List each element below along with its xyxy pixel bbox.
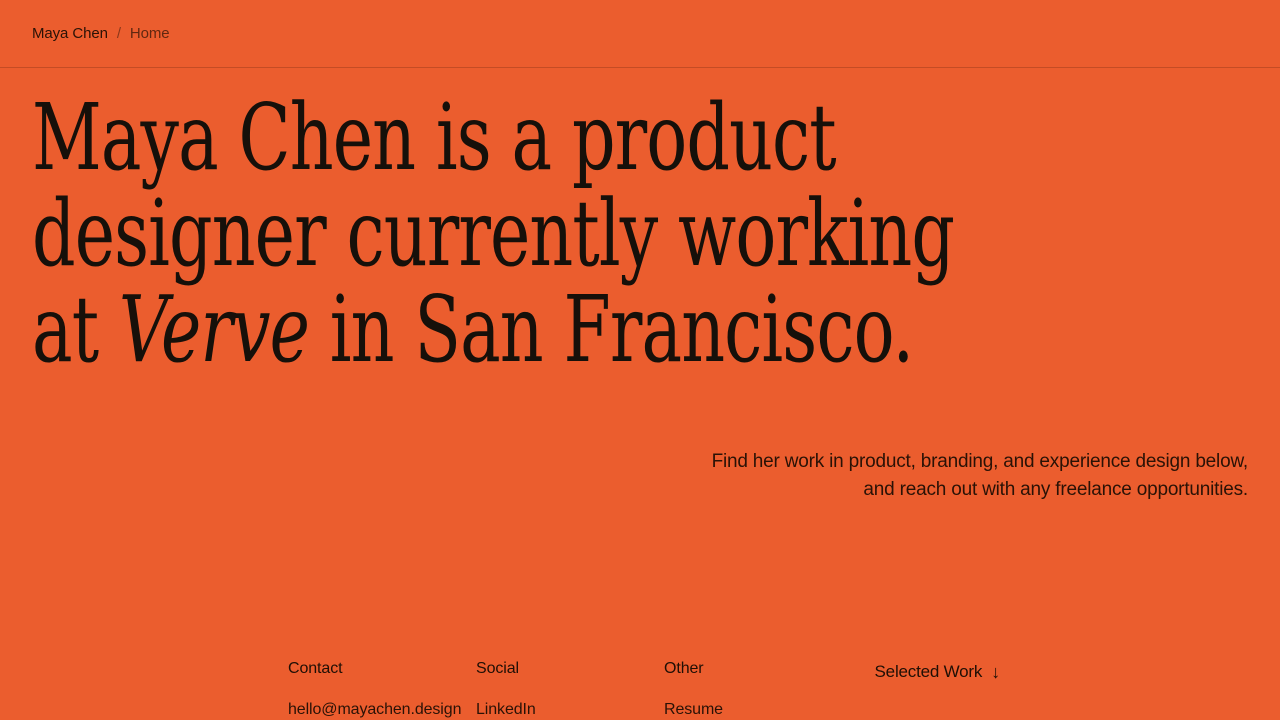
footer-column-contact: Contact hello@mayachen.design: [288, 660, 476, 720]
footer-column-title: Social: [476, 660, 664, 678]
selected-work-label: Selected Work: [875, 662, 983, 682]
footer-column-title: Other: [664, 660, 852, 678]
breadcrumb: Maya Chen / Home: [32, 25, 170, 42]
selected-work-link[interactable]: Selected Work ↓: [875, 662, 1248, 682]
breadcrumb-root-link[interactable]: Maya Chen: [32, 25, 108, 42]
page-title: Maya Chen is a product designer currentl…: [32, 90, 994, 378]
site-header: Maya Chen / Home: [0, 0, 1280, 68]
arrow-down-icon: ↓: [991, 663, 1000, 681]
footer-link-linkedin[interactable]: LinkedIn: [476, 699, 664, 720]
intro-paragraph: Find her work in product, branding, and …: [688, 448, 1248, 504]
footer-column-other: Other Resume: [664, 660, 852, 720]
hero-section: Maya Chen is a product designer currentl…: [0, 90, 1280, 378]
headline-emphasis-company: Verve: [119, 276, 309, 383]
footer-columns: Contact hello@mayachen.design Social Lin…: [288, 660, 875, 720]
site-footer: Contact hello@mayachen.design Social Lin…: [0, 660, 1280, 720]
footer-column-social: Social LinkedIn: [476, 660, 664, 720]
breadcrumb-current: Home: [130, 25, 170, 42]
breadcrumb-separator: /: [117, 25, 121, 42]
footer-link-email[interactable]: hello@mayachen.design: [288, 699, 476, 720]
headline-text-part2: in San Francisco.: [309, 276, 913, 383]
intro-paragraph-container: Find her work in product, branding, and …: [688, 448, 1248, 504]
footer-link-resume[interactable]: Resume: [664, 699, 852, 720]
footer-column-title: Contact: [288, 660, 476, 678]
